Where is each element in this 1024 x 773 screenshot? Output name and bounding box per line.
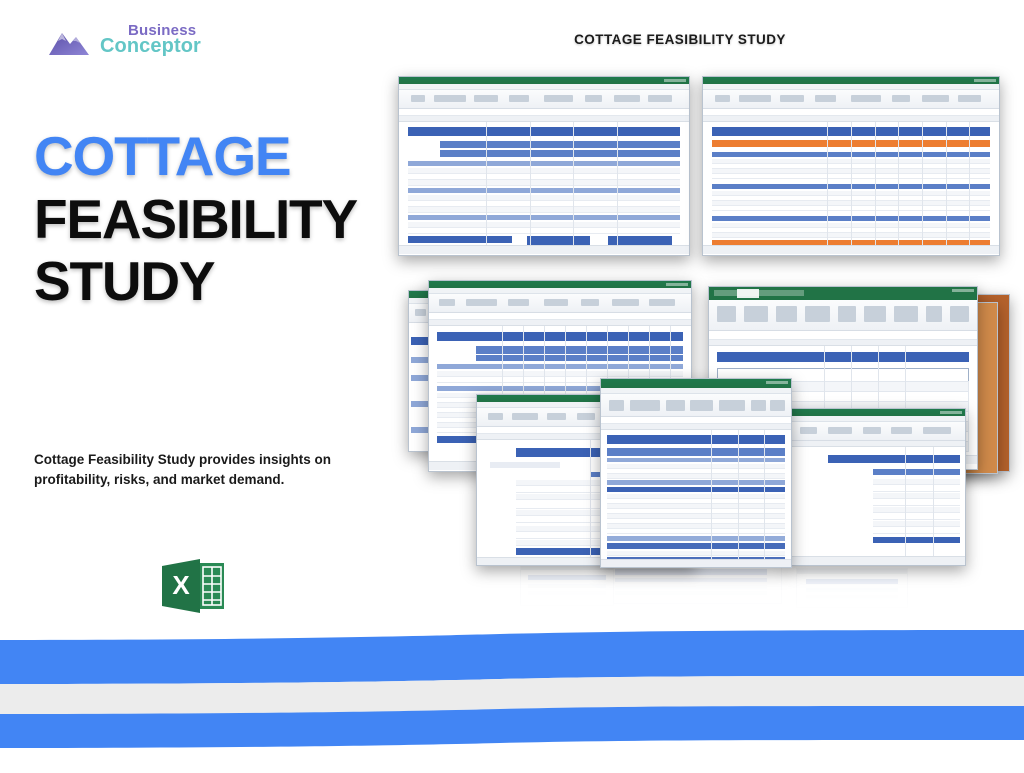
page-subtitle: Cottage Feasibility Study provides insig… xyxy=(34,450,364,489)
title-line-1: COTTAGE xyxy=(34,128,384,185)
window-ribbon xyxy=(399,90,689,109)
formula-bar[interactable] xyxy=(601,417,791,424)
sheet-title-banner xyxy=(717,352,969,362)
formula-bar[interactable] xyxy=(429,313,691,320)
wave-band-top xyxy=(0,630,1024,684)
budget-previsionnel-window[interactable] xyxy=(702,76,1000,256)
document-header-title: COTTAGE FEASIBILITY STUDY xyxy=(430,32,930,47)
sheet-title-banner xyxy=(437,332,683,341)
window-ribbon xyxy=(429,294,691,313)
sheet-title-banner xyxy=(408,127,681,136)
status-bar xyxy=(399,245,689,254)
total-charges-row xyxy=(607,536,786,541)
total-row xyxy=(873,537,959,543)
window-ribbon[interactable] xyxy=(709,300,977,331)
month-header-row xyxy=(476,346,683,354)
status-bar xyxy=(789,556,965,565)
formula-bar[interactable] xyxy=(709,331,977,340)
sheet-title-banner xyxy=(828,455,960,463)
resultat-exploitation-row xyxy=(607,543,786,549)
worksheet-grid[interactable] xyxy=(399,122,689,254)
window-titlebar xyxy=(789,409,965,416)
produits-section xyxy=(607,458,786,462)
worksheet-grid[interactable] xyxy=(601,430,791,568)
table-header-row xyxy=(607,448,786,456)
formula-bar[interactable] xyxy=(703,109,999,116)
window-ribbon xyxy=(601,394,791,417)
worksheet-grid[interactable] xyxy=(703,122,999,254)
side-label xyxy=(490,462,560,468)
section-label-2 xyxy=(408,188,681,193)
section-label-3 xyxy=(408,215,681,220)
excel-icon: X xyxy=(160,556,226,616)
column-header-row xyxy=(440,150,681,157)
encaissements-header xyxy=(437,364,683,369)
window-titlebar xyxy=(399,77,689,84)
year-group-header xyxy=(440,141,681,148)
compte-resultat-window[interactable] xyxy=(600,378,792,568)
section-label-1 xyxy=(408,161,681,166)
charges-section xyxy=(607,487,786,492)
year-header-row xyxy=(873,469,959,475)
brand-logo[interactable]: Business Conceptor xyxy=(48,22,258,66)
result-row xyxy=(516,548,608,555)
window-titlebar xyxy=(429,281,691,288)
window-titlebar xyxy=(703,77,999,84)
total-ca-row xyxy=(607,480,786,485)
status-bar xyxy=(703,245,999,254)
page-title: COTTAGE FEASIBILITY STUDY xyxy=(34,128,384,316)
window-titlebar xyxy=(601,379,791,388)
footer-wave-decoration xyxy=(0,618,1024,768)
total-row xyxy=(408,236,512,243)
title-line-3: STUDY xyxy=(34,253,384,310)
sheet-title-banner xyxy=(607,435,786,444)
status-bar xyxy=(601,559,791,568)
formula-bar[interactable] xyxy=(399,109,689,116)
amortissements-window[interactable] xyxy=(788,408,966,566)
window-ribbon xyxy=(703,90,999,109)
brand-name-bottom: Conceptor xyxy=(100,35,201,58)
worksheet-grid[interactable] xyxy=(789,447,965,565)
mountain-logo-icon xyxy=(48,28,104,58)
window-ribbon xyxy=(789,422,965,441)
title-line-2: FEASIBILITY xyxy=(34,191,384,248)
screenshot-stack xyxy=(380,58,1020,618)
chiffre-affaires-window[interactable] xyxy=(398,76,690,256)
excel-icon-letter: X xyxy=(172,570,190,600)
month-subheader-row xyxy=(476,355,683,361)
window-titlebar xyxy=(709,287,977,300)
